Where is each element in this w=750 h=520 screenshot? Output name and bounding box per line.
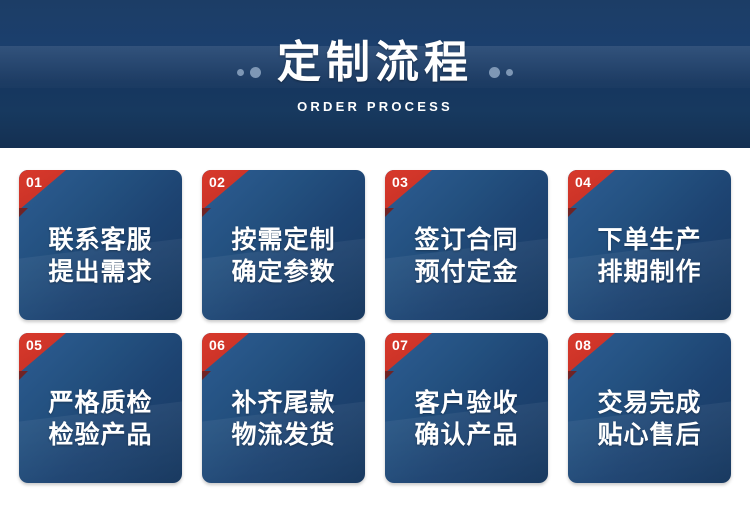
corner-fold-icon (19, 208, 28, 217)
step-number: 05 (26, 337, 42, 353)
page-title: 定制流程 (277, 41, 473, 85)
step-text: 交易完成 贴心售后 (568, 387, 731, 451)
dot-icon (250, 67, 261, 78)
process-step-card: 04 下单生产 排期制作 (568, 170, 731, 320)
dot-icon (237, 69, 244, 76)
step-text-line1: 下单生产 (568, 224, 731, 256)
process-steps-grid: 01 联系客服 提出需求 02 按需定制 确定参数 03 签订合同 预付定金 (0, 148, 750, 483)
step-text: 联系客服 提出需求 (19, 224, 182, 288)
step-text-line2: 排期制作 (568, 256, 731, 288)
step-text-line1: 客户验收 (385, 387, 548, 419)
title-row: 定制流程 (237, 41, 513, 85)
corner-fold-icon (202, 208, 211, 217)
step-text: 签订合同 预付定金 (385, 224, 548, 288)
corner-fold-icon (568, 371, 577, 380)
step-text-line2: 确定参数 (202, 256, 365, 288)
process-step-card: 08 交易完成 贴心售后 (568, 333, 731, 483)
dot-icon (506, 69, 513, 76)
page-subtitle: ORDER PROCESS (297, 99, 453, 114)
step-text: 补齐尾款 物流发货 (202, 387, 365, 451)
step-number: 04 (575, 174, 591, 190)
step-text-line2: 贴心售后 (568, 419, 731, 451)
step-text: 严格质检 检验产品 (19, 387, 182, 451)
step-text-line2: 预付定金 (385, 256, 548, 288)
step-number: 03 (392, 174, 408, 190)
corner-fold-icon (568, 208, 577, 217)
decorative-dots-right (489, 48, 513, 78)
step-text-line1: 严格质检 (19, 387, 182, 419)
corner-fold-icon (385, 371, 394, 380)
step-text-line1: 签订合同 (385, 224, 548, 256)
decorative-dots-left (237, 48, 261, 78)
step-text-line1: 补齐尾款 (202, 387, 365, 419)
order-process-page: 定制流程 ORDER PROCESS 01 联系客服 提出需求 02 (0, 0, 750, 520)
step-text: 按需定制 确定参数 (202, 224, 365, 288)
step-number: 06 (209, 337, 225, 353)
step-text-line1: 交易完成 (568, 387, 731, 419)
corner-fold-icon (385, 208, 394, 217)
header-content: 定制流程 ORDER PROCESS (0, 0, 750, 148)
process-step-card: 07 客户验收 确认产品 (385, 333, 548, 483)
step-number: 08 (575, 337, 591, 353)
step-text-line1: 联系客服 (19, 224, 182, 256)
corner-fold-icon (202, 371, 211, 380)
step-text: 客户验收 确认产品 (385, 387, 548, 451)
step-text-line2: 物流发货 (202, 419, 365, 451)
process-step-card: 05 严格质检 检验产品 (19, 333, 182, 483)
step-number: 02 (209, 174, 225, 190)
corner-fold-icon (19, 371, 28, 380)
step-number: 01 (26, 174, 42, 190)
process-step-card: 03 签订合同 预付定金 (385, 170, 548, 320)
step-text: 下单生产 排期制作 (568, 224, 731, 288)
step-number: 07 (392, 337, 408, 353)
process-step-card: 01 联系客服 提出需求 (19, 170, 182, 320)
dot-icon (489, 67, 500, 78)
step-text-line2: 确认产品 (385, 419, 548, 451)
step-text-line2: 提出需求 (19, 256, 182, 288)
step-text-line2: 检验产品 (19, 419, 182, 451)
process-step-card: 06 补齐尾款 物流发货 (202, 333, 365, 483)
process-step-card: 02 按需定制 确定参数 (202, 170, 365, 320)
step-text-line1: 按需定制 (202, 224, 365, 256)
header-banner: 定制流程 ORDER PROCESS (0, 0, 750, 148)
